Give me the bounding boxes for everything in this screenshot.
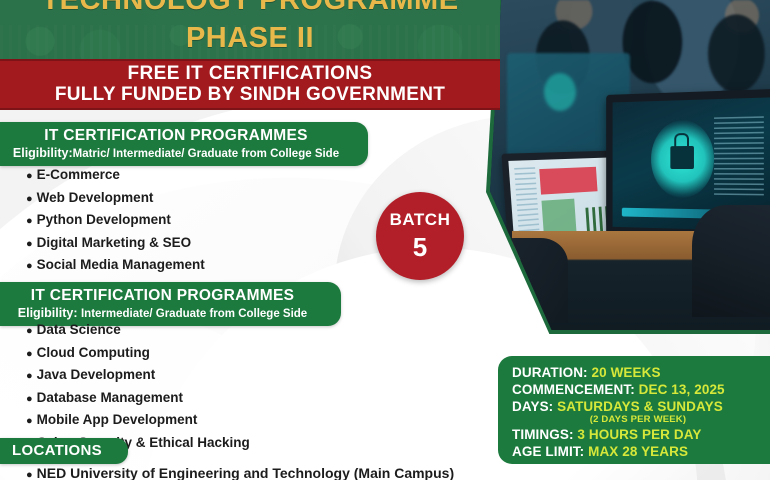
- detail-days-value: SATURDAYS & SUNDAYS: [557, 399, 723, 414]
- list-item: ●Mobile App Development: [26, 413, 250, 427]
- batch-number: 5: [413, 232, 427, 263]
- detail-age-label: AGE LIMIT:: [512, 444, 584, 459]
- section1-eligibility-value: Matric/ Intermediate/ Graduate from Coll…: [73, 148, 339, 160]
- padlock-body-icon: [670, 146, 694, 169]
- photo-code-lines: [714, 116, 764, 196]
- course-label: Digital Marketing & SEO: [37, 235, 192, 250]
- detail-days-label: DAYS:: [512, 399, 553, 414]
- flyer-poster: TECHNOLOGY PROGRAMME PHASE II FREE IT CE…: [0, 0, 770, 480]
- list-item: ●Python Development: [26, 213, 259, 227]
- list-item: ●Social Media Management: [26, 258, 259, 272]
- course-label: Social Media Management: [37, 257, 205, 272]
- detail-days-note: (2 DAYS PER WEEK): [506, 414, 770, 425]
- list-item: ●Database Management: [26, 391, 250, 405]
- course-label: Data Science: [37, 322, 121, 337]
- detail-age-limit: AGE LIMIT: MAX 28 YEARS: [512, 443, 770, 460]
- locations-list: ●NED University of Engineering and Techn…: [26, 466, 454, 480]
- location-label: NED University of Engineering and Techno…: [37, 465, 454, 480]
- locations-title: LOCATIONS: [0, 442, 114, 459]
- section1-header-pill: IT CERTIFICATION PROGRAMMES Eligibility:…: [0, 122, 368, 166]
- list-item: ●Cloud Computing: [26, 346, 250, 360]
- detail-timings: TIMINGS: 3 HOURS PER DAY: [512, 426, 770, 443]
- detail-timings-value: 3 HOURS PER DAY: [577, 427, 701, 442]
- batch-badge: BATCH 5: [376, 192, 464, 280]
- list-item: ●E-Commerce: [26, 168, 259, 182]
- list-item: ●Java Development: [26, 368, 250, 382]
- list-item: ●Data Science: [26, 323, 250, 337]
- section2-eligibility: Eligibility: Intermediate/ Graduate from…: [0, 306, 325, 320]
- section2-title: IT CERTIFICATION PROGRAMMES: [0, 287, 325, 305]
- header-banner: TECHNOLOGY PROGRAMME PHASE II: [0, 0, 500, 59]
- detail-duration: DURATION: 20 WEEKS: [512, 364, 770, 381]
- funding-banner: FREE IT CERTIFICATIONS FULLY FUNDED BY S…: [0, 59, 500, 110]
- locations-header-pill: LOCATIONS: [0, 438, 128, 464]
- section2-eligibility-label: Eligibility:: [18, 306, 78, 320]
- detail-timings-label: TIMINGS:: [512, 427, 574, 442]
- course-label: Cloud Computing: [37, 345, 150, 360]
- programme-title-line1: TECHNOLOGY PROGRAMME: [0, 0, 500, 15]
- programme-title-line2: PHASE II: [0, 24, 500, 53]
- section2-header-pill: IT CERTIFICATION PROGRAMMES Eligibility:…: [0, 282, 341, 326]
- detail-commencement-label: COMMENCEMENT:: [512, 382, 635, 397]
- course-label: Web Development: [37, 190, 154, 205]
- section1-eligibility-label: Eligibility:: [13, 146, 73, 160]
- detail-commencement-value: DEC 13, 2025: [639, 382, 725, 397]
- section1-eligibility: Eligibility:Matric/ Intermediate/ Gradua…: [0, 146, 352, 160]
- course-label: Python Development: [37, 212, 171, 227]
- banner-line1: FREE IT CERTIFICATIONS: [128, 64, 373, 85]
- section2-eligibility-value: Intermediate/ Graduate from College Side: [81, 308, 307, 320]
- hero-photo: [490, 0, 770, 330]
- detail-commencement: COMMENCEMENT: DEC 13, 2025: [512, 381, 770, 398]
- course-label: Mobile App Development: [37, 412, 198, 427]
- course-label: Database Management: [37, 390, 183, 405]
- list-item: ●Digital Marketing & SEO: [26, 236, 259, 250]
- photo-person-right: [692, 205, 770, 317]
- course-label: Java Development: [37, 367, 156, 382]
- detail-duration-value: 20 WEEKS: [592, 365, 661, 380]
- programme-details-panel: DURATION: 20 WEEKS COMMENCEMENT: DEC 13,…: [498, 356, 770, 464]
- course-label: E-Commerce: [37, 167, 120, 182]
- batch-label: BATCH: [390, 210, 451, 230]
- section1-title: IT CERTIFICATION PROGRAMMES: [0, 127, 352, 145]
- list-item: ●NED University of Engineering and Techn…: [26, 466, 454, 480]
- detail-age-value: MAX 28 YEARS: [588, 444, 688, 459]
- detail-days: DAYS: SATURDAYS & SUNDAYS: [512, 398, 770, 415]
- banner-line2: FULLY FUNDED BY SINDH GOVERNMENT: [55, 85, 445, 106]
- list-item: ●Web Development: [26, 191, 259, 205]
- detail-duration-label: DURATION:: [512, 365, 588, 380]
